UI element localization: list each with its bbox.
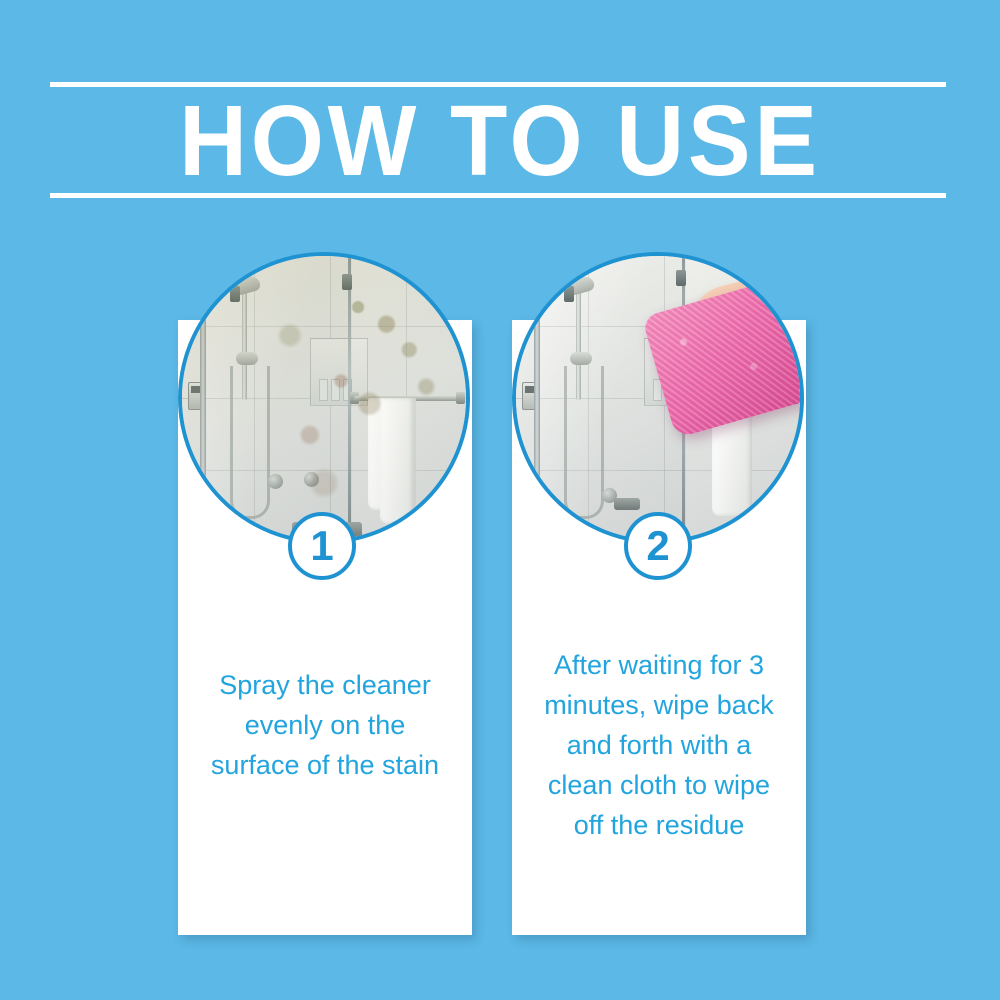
- step-caption-1: Spray the cleaner evenly on the surface …: [192, 665, 458, 785]
- page-title: HOW TO USE: [30, 92, 970, 190]
- header-divider-bottom: [50, 193, 946, 198]
- caption-line: After waiting for 3: [526, 645, 792, 685]
- caption-line: off the residue: [526, 805, 792, 845]
- caption-line: surface of the stain: [192, 745, 458, 785]
- step-badge-2: 2: [624, 512, 692, 580]
- door-hinge-icon: [676, 270, 686, 286]
- step-1-photo: [178, 252, 470, 544]
- how-to-use-infographic: HOW TO USE: [0, 0, 1000, 1000]
- caption-line: clean cloth to wipe: [526, 765, 792, 805]
- door-hinge-icon: [564, 286, 574, 302]
- caption-line: minutes, wipe back: [526, 685, 792, 725]
- bathroom-scene-dirty: [182, 256, 466, 540]
- caption-line: Spray the cleaner: [192, 665, 458, 705]
- step-badge-1: 1: [288, 512, 356, 580]
- caption-line: evenly on the: [192, 705, 458, 745]
- shower-drain-icon: [614, 498, 640, 510]
- bathroom-scene-clean: [516, 256, 800, 540]
- step-caption-2: After waiting for 3 minutes, wipe back a…: [526, 645, 792, 845]
- caption-line: and forth with a: [526, 725, 792, 765]
- stain-overlay: [182, 256, 466, 540]
- step-2-photo: [512, 252, 804, 544]
